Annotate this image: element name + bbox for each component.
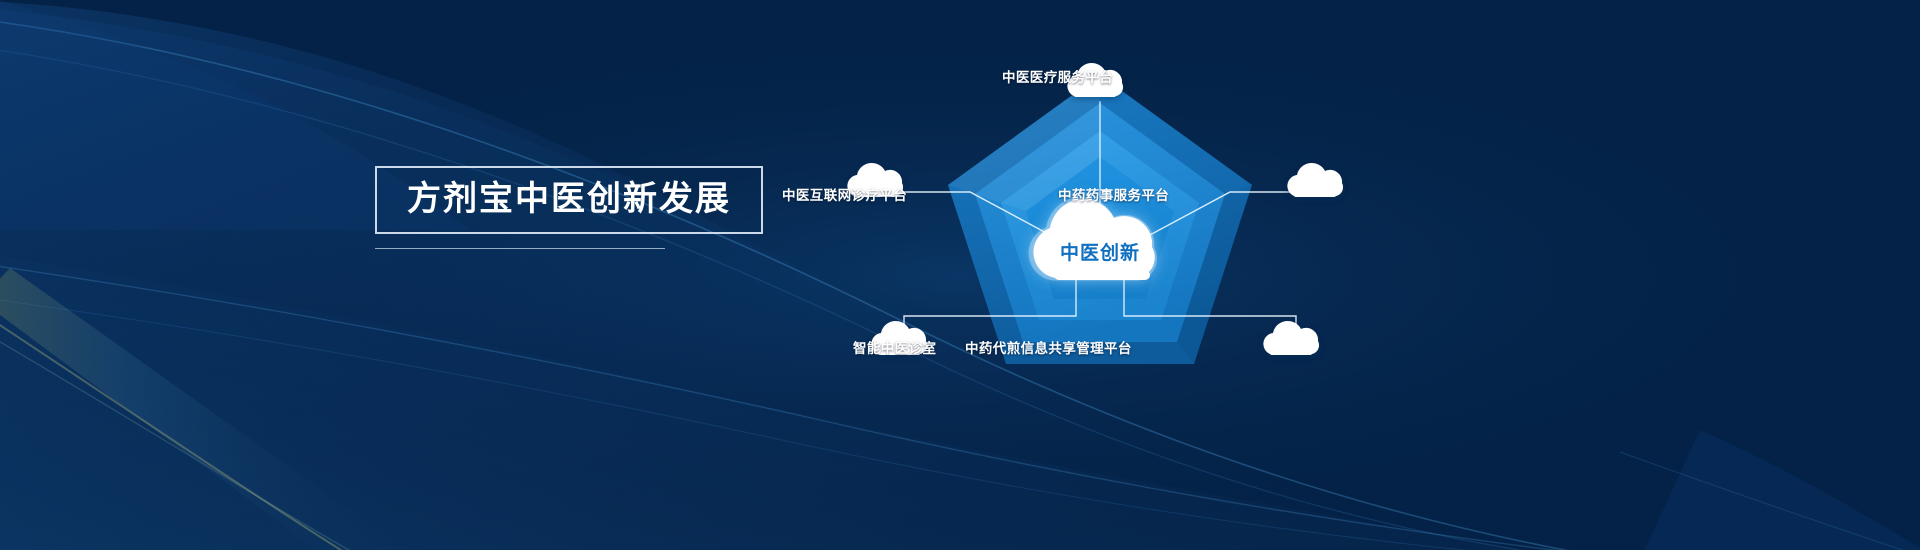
node-label-lower-right: 中药代煎信息共享管理平台 — [965, 337, 1132, 357]
node-label-upper-left: 中医互联网诊疗平台 — [782, 184, 907, 204]
center-node-label: 中医创新 — [1048, 238, 1152, 265]
node-label-top: 中医医疗服务平台 — [1002, 66, 1113, 86]
node-label-upper-right: 中药药事服务平台 — [1058, 184, 1169, 204]
page-title: 方剂宝中医创新发展 — [407, 182, 731, 216]
node-label-lower-left: 智能中医诊室 — [853, 337, 936, 357]
title-box: 方剂宝中医创新发展 — [375, 166, 763, 234]
headline-block: 方剂宝中医创新发展 — [375, 166, 763, 249]
banner-stage: 方剂宝中医创新发展 — [0, 0, 1920, 550]
pentagon-diagram: 中医创新 — [780, 40, 1420, 380]
title-underline — [375, 248, 665, 249]
